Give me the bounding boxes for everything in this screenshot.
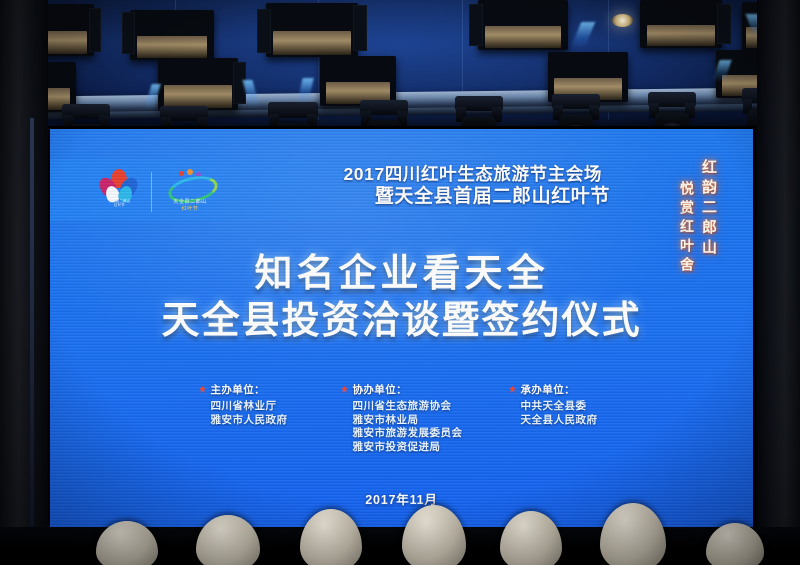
organizer-entry: 四川省林业厅 bbox=[199, 400, 295, 414]
organizer-heading: 协办单位： bbox=[341, 382, 463, 397]
led-screen: 天全县二郎山红叶节 天全县二郎山 红叶节 2017四川红叶生态旅游节主会场 暨天… bbox=[50, 129, 753, 527]
barndoor-light-fixture bbox=[158, 58, 238, 110]
organizer-heading: 承办单位： bbox=[509, 382, 605, 397]
main-title: 知名企业看天全 天全县投资洽谈暨签约仪式 bbox=[50, 251, 753, 345]
barndoor-light-fixture bbox=[320, 56, 396, 106]
organizer-entry: 雅安市林业局 bbox=[341, 414, 463, 428]
calligraphy-block: 红韵二郎山 悦赏红叶舍 bbox=[675, 159, 719, 276]
organizer-entry: 雅安市旅游发展委员会 bbox=[341, 427, 463, 441]
calligraphy-column-1: 红韵二郎山 bbox=[698, 159, 719, 276]
star-icon bbox=[341, 386, 349, 394]
screen-header-text: 2017四川红叶生态旅游节主会场 暨天全县首届二郎山红叶节 bbox=[210, 163, 610, 208]
left-wall bbox=[0, 0, 48, 565]
wall-trim bbox=[30, 118, 34, 538]
header-line-2: 暨天全县首届二郎山红叶节 bbox=[210, 185, 610, 208]
logo-caption-bottom: 红叶节 bbox=[163, 205, 217, 212]
organizer-heading: 主办单位： bbox=[199, 382, 295, 397]
organizer-label: 承办单位： bbox=[521, 382, 576, 397]
organizer-entry: 四川省生态旅游协会 bbox=[341, 400, 463, 414]
star-icon bbox=[199, 386, 207, 394]
event-date: 2017年11月 bbox=[50, 489, 753, 508]
logo-group: 天全县二郎山红叶节 天全县二郎山 红叶节 bbox=[98, 169, 217, 215]
barndoor-light-fixture bbox=[640, 0, 722, 48]
header-line-1: 2017四川红叶生态旅游节主会场 bbox=[210, 163, 610, 185]
organizer-column-host: 主办单位： 四川省林业厅 雅安市人民政府 bbox=[199, 382, 295, 454]
organizer-columns: 主办单位： 四川省林业厅 雅安市人民政府 协办单位： 四川省生态旅游协会 雅安市… bbox=[50, 382, 753, 454]
organizer-entry: 中共天全县委 bbox=[509, 400, 605, 414]
title-line-1: 知名企业看天全 bbox=[50, 251, 753, 297]
organizer-column-undertaker: 承办单位： 中共天全县委 天全县人民政府 bbox=[509, 382, 605, 454]
organizer-entry: 雅安市投资促进局 bbox=[341, 441, 463, 455]
logo-caption: 天全县二郎山红叶节 bbox=[107, 199, 132, 208]
barndoor-light-fixture bbox=[130, 10, 214, 60]
title-line-2: 天全县投资洽谈暨签约仪式 bbox=[50, 297, 753, 345]
logo-caption-top: 天全县二郎山 bbox=[163, 198, 217, 205]
barndoor-light-fixture bbox=[478, 0, 568, 50]
barndoor-light-fixture bbox=[266, 3, 358, 57]
organizer-entry: 天全县人民政府 bbox=[509, 414, 605, 428]
organizer-label: 协办单位： bbox=[353, 382, 408, 397]
organizer-label: 主办单位： bbox=[211, 382, 266, 397]
organizer-column-coorganizer: 协办单位： 四川省生态旅游协会 雅安市林业局 雅安市旅游发展委员会 雅安市投资促… bbox=[341, 382, 463, 454]
erlangshan-red-leaf-logo: 天全县二郎山 红叶节 bbox=[163, 169, 217, 215]
right-wall bbox=[757, 0, 800, 565]
ceiling-downlight bbox=[612, 14, 633, 27]
sichuan-red-leaf-festival-logo: 天全县二郎山红叶节 bbox=[98, 169, 140, 215]
calligraphy-column-2: 悦赏红叶舍 bbox=[675, 181, 695, 276]
logo-divider bbox=[151, 172, 152, 212]
conference-hall-photo: 天全县二郎山红叶节 天全县二郎山 红叶节 2017四川红叶生态旅游节主会场 暨天… bbox=[0, 0, 800, 565]
organizer-entry: 雅安市人民政府 bbox=[199, 414, 295, 428]
star-icon bbox=[509, 386, 517, 394]
